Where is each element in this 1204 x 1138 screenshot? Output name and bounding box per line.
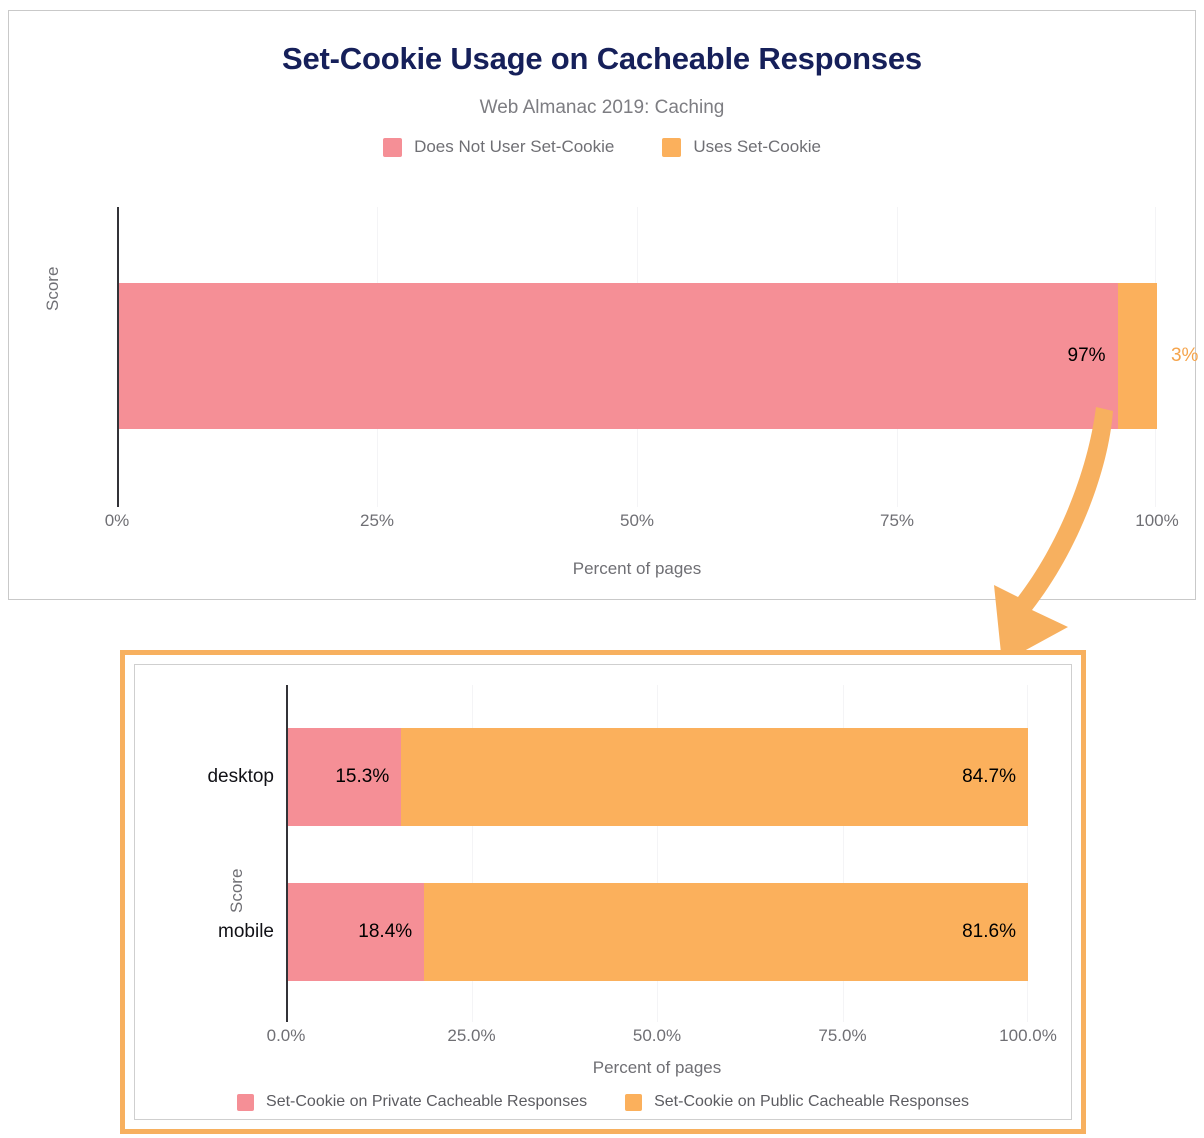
bar-value-label: 18.4% [358,921,412,943]
legend-swatch-icon [662,138,681,157]
x-axis-tick-label: 25.0% [447,1026,495,1046]
bar-value-label: 15.3% [335,766,389,788]
bar-value-label: 84.7% [962,766,1016,788]
bar-segment-private-desktop[interactable]: 15.3% [288,728,401,826]
legend-item-label: Does Not User Set-Cookie [414,137,614,157]
legend-item-does-not-use-set-cookie[interactable]: Does Not User Set-Cookie [383,137,614,157]
x-axis-tick-label: 50% [620,511,654,531]
legend-item-label: Uses Set-Cookie [693,137,821,157]
page-title: Set-Cookie Usage on Cacheable Responses [9,41,1195,77]
legend-item-uses-set-cookie[interactable]: Uses Set-Cookie [662,137,821,157]
bottom-chart-plot-area: desktop 15.3% 84.7% mobile 18.4% 81.6 [286,685,1028,1022]
bar-segment-public-desktop[interactable]: 84.7% [401,728,1028,826]
bottom-chart-x-axis-title: Percent of pages [286,1058,1028,1078]
legend-item-label: Set-Cookie on Public Cacheable Responses [654,1093,969,1111]
x-axis-tick-label: 0.0% [267,1026,306,1046]
bottom-chart-highlight-frame: Score desktop 15.3% 84.7% [120,650,1086,1134]
bottom-chart-card: Score desktop 15.3% 84.7% [134,664,1072,1120]
bottom-chart-y-axis-title: Score [227,869,247,913]
legend-swatch-icon [625,1094,642,1111]
legend-swatch-icon [383,138,402,157]
legend-item-public-cacheable[interactable]: Set-Cookie on Public Cacheable Responses [625,1093,969,1111]
legend-item-private-cacheable[interactable]: Set-Cookie on Private Cacheable Response… [237,1093,587,1111]
bar-value-label: 97% [1068,345,1106,367]
category-label: mobile [218,921,274,943]
bar-segment-does-not-use-set-cookie[interactable]: 97% [119,283,1118,429]
bar-segment-public-mobile[interactable]: 81.6% [424,883,1028,981]
x-axis-tick-label: 50.0% [633,1026,681,1046]
bar-value-label: 81.6% [962,921,1016,943]
bar-row-mobile: mobile 18.4% 81.6% [288,883,1028,981]
chart-page: Set-Cookie Usage on Cacheable Responses … [0,0,1204,1138]
category-label: desktop [207,766,274,788]
zoom-in-arrow-icon [980,405,1160,670]
x-axis-tick-label: 0% [105,511,130,531]
legend-item-label: Set-Cookie on Private Cacheable Response… [266,1093,587,1111]
bar-row-desktop: desktop 15.3% 84.7% [288,728,1028,826]
chart-subtitle: Web Almanac 2019: Caching [9,97,1195,119]
x-axis-tick-label: 75% [880,511,914,531]
x-axis-tick-label: 75.0% [818,1026,866,1046]
top-chart-y-axis-title: Score [43,267,63,311]
bar-segment-private-mobile[interactable]: 18.4% [288,883,424,981]
legend-swatch-icon [237,1094,254,1111]
top-chart-legend: Does Not User Set-Cookie Uses Set-Cookie [9,137,1195,157]
bar-value-label: 3% [1171,345,1198,367]
bottom-chart-legend: Set-Cookie on Private Cacheable Response… [135,1093,1071,1111]
x-axis-tick-label: 100.0% [999,1026,1057,1046]
x-axis-tick-label: 25% [360,511,394,531]
